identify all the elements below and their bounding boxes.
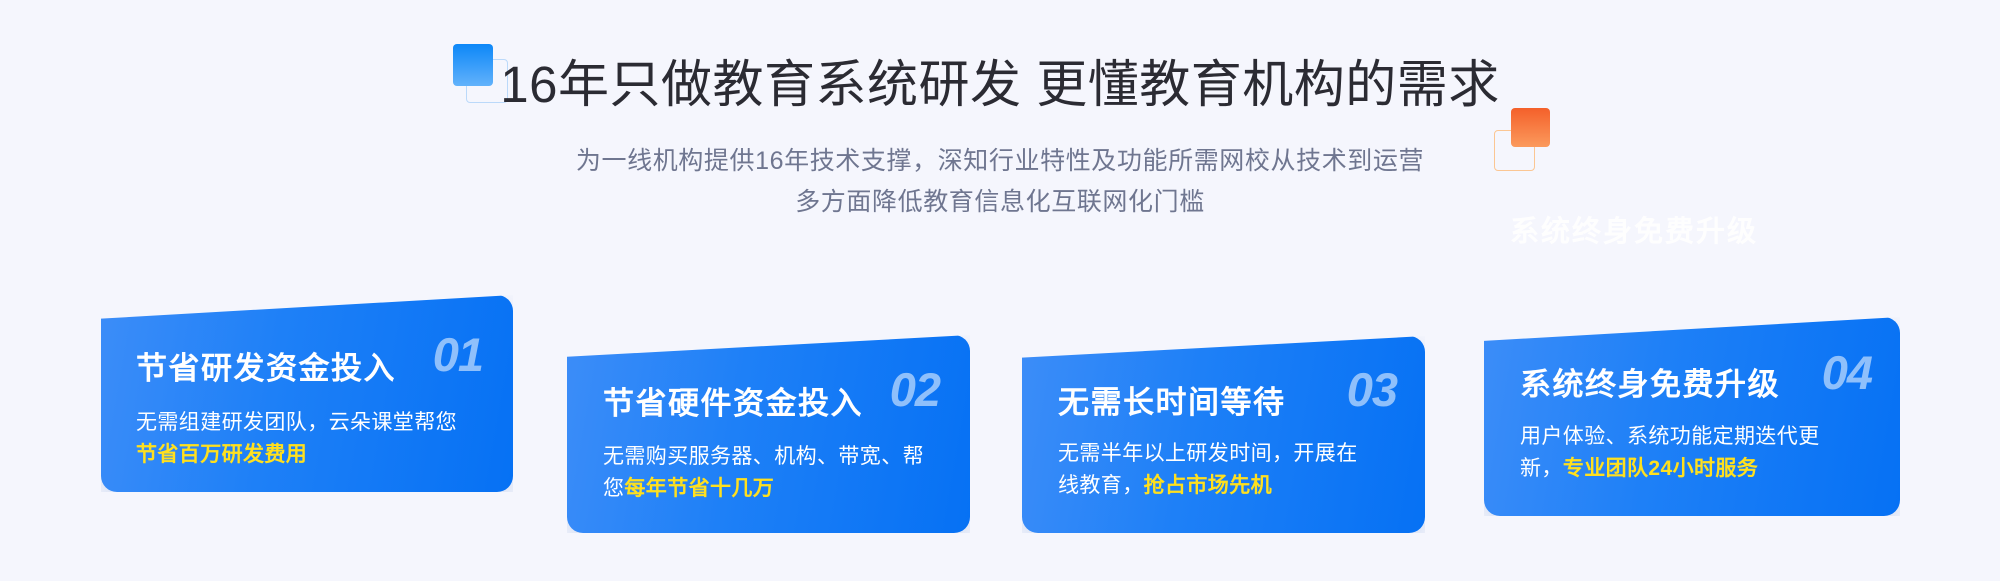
promo-banner: 系统终身免费升级 16年只做教育系统研发 更懂教育机构的需求 为一线机构提供16…: [0, 0, 2000, 581]
feature-card-04-description: 用户体验、系统功能定期迭代更新，专业团队24小时服务: [1520, 421, 1855, 485]
feature-card-02[interactable]: 02 节省硬件资金投入 无需购买服务器、机构、带宽、帮您每年节省十几万: [567, 335, 970, 533]
feature-card-01-description-highlight: 节省百万研发费用: [136, 443, 307, 466]
feature-card-03-description: 无需半年以上研发时间，开展在线教育，抢占市场先机: [1058, 438, 1368, 502]
feature-card-01-description-plain: 无需组建研发团队，云朵课堂帮您: [136, 411, 457, 434]
feature-card-01-title: 节省研发资金投入: [136, 353, 396, 384]
feature-card-03-inner: 03 无需长时间等待 无需半年以上研发时间，开展在线教育，抢占市场先机: [1022, 336, 1425, 533]
feature-card-01-inner: 01 节省研发资金投入 无需组建研发团队，云朵课堂帮您节省百万研发费用: [101, 295, 513, 492]
feature-card-01-number: 01: [433, 331, 483, 378]
feature-card-03-description-highlight: 抢占市场先机: [1144, 474, 1272, 497]
feature-card-04-number: 04: [1822, 349, 1872, 396]
feature-card-02-inner: 02 节省硬件资金投入 无需购买服务器、机构、带宽、帮您每年节省十几万: [567, 335, 970, 533]
feature-card-02-description: 无需购买服务器、机构、带宽、帮您每年节省十几万: [603, 441, 933, 505]
feature-card-02-description-highlight: 每年节省十几万: [624, 477, 774, 500]
feature-card-04-title: 系统终身免费升级: [1520, 369, 1780, 400]
feature-card-02-title: 节省硬件资金投入: [603, 388, 863, 419]
feature-card-02-number: 02: [890, 366, 940, 413]
feature-card-04-inner: 04 系统终身免费升级 用户体验、系统功能定期迭代更新，专业团队24小时服务: [1484, 317, 1900, 516]
feature-card-01[interactable]: 01 节省研发资金投入 无需组建研发团队，云朵课堂帮您节省百万研发费用: [101, 295, 513, 492]
feature-card-03-title: 无需长时间等待: [1058, 387, 1286, 418]
feature-card-list: 01 节省研发资金投入 无需组建研发团队，云朵课堂帮您节省百万研发费用 02 节…: [0, 0, 2000, 581]
feature-card-01-description: 无需组建研发团队，云朵课堂帮您节省百万研发费用: [136, 407, 466, 471]
feature-card-03-number: 03: [1347, 366, 1397, 413]
feature-card-04[interactable]: 04 系统终身免费升级 用户体验、系统功能定期迭代更新，专业团队24小时服务: [1484, 317, 1900, 516]
feature-card-03[interactable]: 03 无需长时间等待 无需半年以上研发时间，开展在线教育，抢占市场先机: [1022, 336, 1425, 533]
feature-card-04-description-highlight: 专业团队24小时服务: [1563, 457, 1758, 480]
